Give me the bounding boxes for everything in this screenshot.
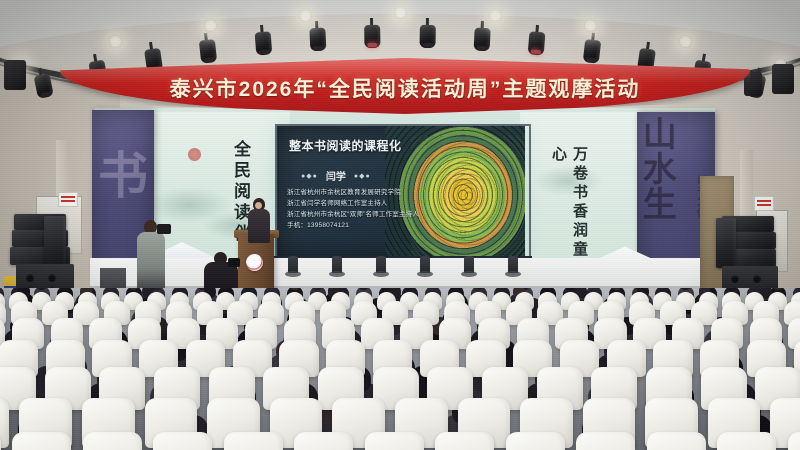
projection-screen-frame (275, 124, 531, 262)
panel-glyph-cursive: 山水生 (639, 116, 671, 221)
presenter-at-podium (246, 198, 272, 244)
sign-bar (61, 196, 75, 198)
audience-chair (0, 398, 9, 448)
stage-uplight (420, 256, 430, 273)
audience-chair (435, 432, 494, 450)
red-sun-motif (188, 148, 201, 161)
pa-array-l4 (44, 216, 66, 268)
stage-lamp (309, 20, 326, 51)
sub-port-r1 (731, 275, 739, 283)
stage-uplight (376, 256, 386, 273)
stage-uplight (508, 256, 518, 273)
stage-lamp (474, 20, 491, 51)
audience-chair (506, 432, 565, 450)
stage-uplight (332, 256, 342, 273)
wall-sign-right (754, 196, 774, 211)
hanging-speaker-left (4, 60, 26, 90)
ceiling-downlight (394, 6, 407, 19)
audience-member-head (796, 288, 800, 290)
lamp-lens (422, 43, 432, 47)
stage-lamp (254, 25, 272, 56)
videographer-standing (137, 220, 165, 292)
stage-uplight (464, 256, 474, 273)
audience-chair (576, 432, 635, 450)
lamp-lens (477, 45, 487, 49)
videographer-body (137, 232, 165, 292)
audience-chair (12, 432, 71, 450)
sign-bar-2 (61, 200, 75, 202)
video-camera-icon (157, 224, 171, 234)
lamp-lens (313, 45, 323, 49)
audience-chair (153, 432, 212, 450)
sub-port-l1 (26, 274, 34, 282)
sub-port-l2 (48, 274, 56, 282)
ceiling-downlight (584, 19, 597, 32)
audience-chair (294, 432, 353, 450)
banner-text: 泰兴市2026年“全民阅读活动周”主题观摩活动 (60, 60, 750, 116)
podium-emblem (246, 254, 263, 271)
presenter-torso (248, 209, 270, 243)
sign-bar-4 (757, 204, 771, 206)
audience-chair (224, 432, 283, 450)
sign-bar-3 (757, 200, 771, 202)
wall-sign-left (58, 192, 78, 207)
audience-chair (717, 432, 776, 450)
camera-icon (228, 258, 240, 267)
conference-hall-photo: 全民阅读伴 万卷书香润童心 书 山水生 以书为伴 整本书阅读的课程化 ●◆● 闫… (0, 0, 800, 450)
audience-chair (83, 432, 142, 450)
ceiling-downlight (204, 19, 217, 32)
sub-port-r2 (753, 275, 761, 283)
audience-chair (365, 432, 424, 450)
audience-chair (647, 432, 706, 450)
stage-uplight (288, 256, 298, 273)
audience-area (0, 288, 800, 450)
panel-glyph-book: 书 (98, 136, 148, 208)
stage-lamp (419, 18, 435, 48)
presenter-face (255, 202, 262, 209)
hanging-speaker-right (772, 64, 794, 94)
event-banner: 泰兴市2026年“全民阅读活动周”主题观摩活动 (60, 58, 750, 120)
lamp-lens (368, 43, 378, 47)
pa-array-r4 (716, 218, 736, 268)
backdrop-calligraphy-right: 万卷书香润童心 (548, 146, 590, 270)
stage-lamp (528, 25, 546, 56)
stage-lamp (364, 18, 380, 48)
